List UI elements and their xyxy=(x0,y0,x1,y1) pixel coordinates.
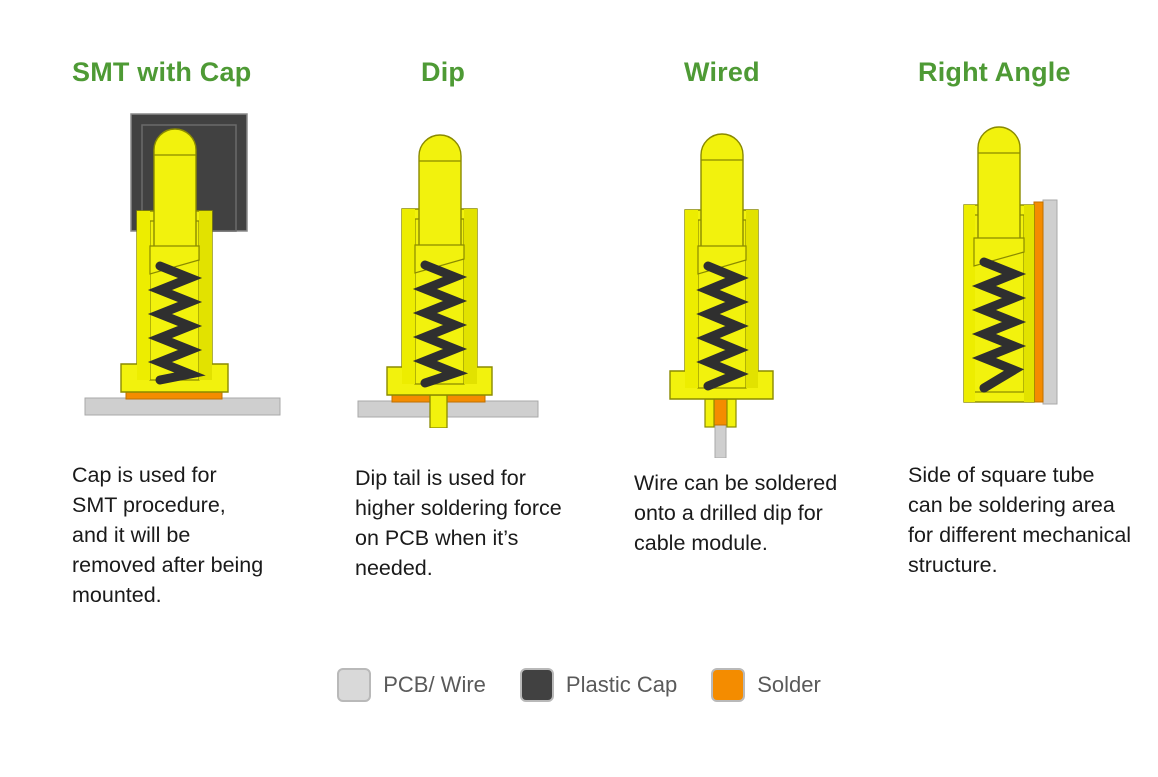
column-title-dip: Dip xyxy=(421,57,465,88)
caption-dip: Dip tail is used for higher soldering fo… xyxy=(355,463,580,583)
caption-wired: Wire can be soldered onto a drilled dip … xyxy=(634,468,859,558)
pin-plunger-icon xyxy=(415,135,464,273)
legend-label-plastic-cap: Plastic Cap xyxy=(566,672,677,698)
pin-plunger-icon xyxy=(698,134,746,274)
vertical-pcb-icon xyxy=(1043,200,1057,404)
legend: PCB/ Wire Plastic Cap Solder xyxy=(0,668,1158,702)
legend-label-solder: Solder xyxy=(757,672,821,698)
legend-item-plastic-cap: Plastic Cap xyxy=(520,668,677,702)
caption-smt-with-cap: Cap is used for SMT procedure, and it wi… xyxy=(72,460,267,610)
figure-smt-with-cap xyxy=(80,108,300,423)
caption-right-angle: Side of square tube can be soldering are… xyxy=(908,460,1132,580)
figure-dip xyxy=(355,133,555,428)
legend-label-pcb-wire: PCB/ Wire xyxy=(383,672,486,698)
pcb-board-icon xyxy=(358,401,538,417)
figure-right-angle xyxy=(930,122,1105,422)
column-title-wired: Wired xyxy=(684,57,760,88)
side-solder-icon xyxy=(1034,202,1043,402)
dip-tail-icon xyxy=(430,395,447,428)
legend-item-solder: Solder xyxy=(711,668,821,702)
diagram-canvas: SMT with Cap Dip Wired Right Angle xyxy=(0,0,1158,777)
legend-swatch-pcb-wire xyxy=(337,668,371,702)
solder-joint-icon xyxy=(714,399,727,425)
legend-swatch-plastic-cap xyxy=(520,668,554,702)
column-title-right-angle: Right Angle xyxy=(918,57,1071,88)
legend-item-pcb-wire: PCB/ Wire xyxy=(337,668,486,702)
legend-swatch-solder xyxy=(711,668,745,702)
pcb-board-icon xyxy=(85,398,280,415)
solder-pad-icon xyxy=(126,392,222,399)
pin-plunger-icon xyxy=(150,129,199,274)
figure-wired xyxy=(648,133,823,458)
column-title-smt-with-cap: SMT with Cap xyxy=(72,57,251,88)
pin-plunger-icon xyxy=(974,127,1024,266)
